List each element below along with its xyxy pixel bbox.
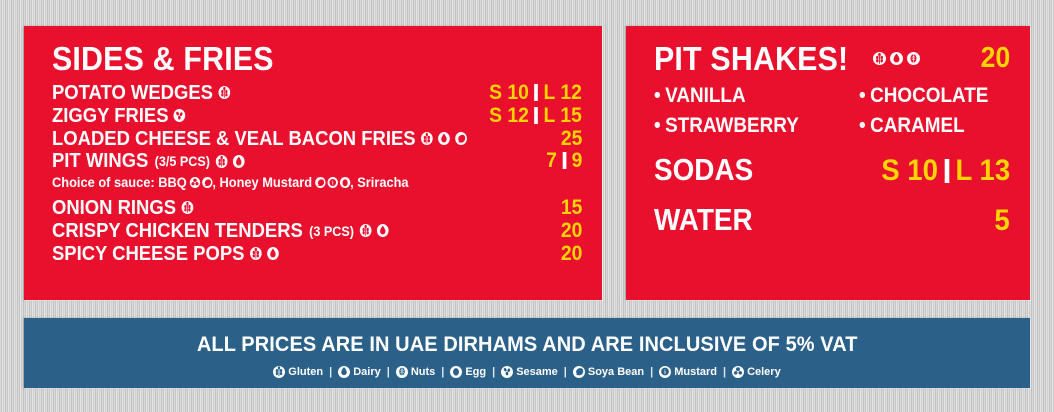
menu-item-price: S 12L 15 (489, 105, 582, 127)
sauce-note-lead: Choice of sauce: BBQ (52, 175, 187, 190)
legend-separator: | (387, 366, 390, 378)
shake-flavor-label: VANILLA (665, 84, 745, 107)
egg-allergen-icon (450, 366, 462, 378)
footer-bar: ALL PRICES ARE IN UAE DIRHAMS AND ARE IN… (24, 318, 1030, 388)
gluten-allergen-icon (218, 86, 230, 99)
egg-allergen-icon (340, 177, 350, 188)
menu-item-price: 79 (546, 150, 582, 172)
mustard-allergen-icon: i (659, 366, 671, 378)
legend-label: Dairy (353, 366, 381, 378)
legend-label: Nuts (411, 366, 435, 378)
menu-item-row: POTATO WEDGESS 10L 12 (52, 82, 582, 104)
celery-allergen-icon (732, 366, 744, 378)
legend-label: Mustard (674, 366, 717, 378)
pit-shakes-header: PIT SHAKES! 20 (654, 42, 1010, 75)
menu-item-price: 20 (561, 243, 582, 265)
legend-separator: | (564, 366, 567, 378)
shake-flavor-list: •VANILLA•CHOCOLATE•STRAWBERRY•CARAMEL (654, 84, 1010, 138)
sesame-allergen-icon (174, 109, 186, 122)
sides-section-title: SIDES & FRIES (52, 42, 540, 75)
menu-item-name: CRISPY CHICKEN TENDERS(3 PCS) (52, 220, 388, 241)
menu-item-name: ONION RINGS (52, 197, 193, 218)
menu-item-name: SPICY CHEESE POPS (52, 243, 279, 264)
menu-item-row: PIT WINGS(3/5 PCS)79 (52, 150, 582, 172)
gluten-allergen-icon (181, 201, 193, 214)
bullet-icon: • (859, 114, 866, 137)
drink-row: WATER5 (654, 202, 1010, 238)
drink-name: SODAS (654, 152, 753, 188)
shakes-and-drinks-panel: PIT SHAKES! 20 •VANILLA•CHOCOLATE•STRAWB… (626, 26, 1030, 300)
price-separator (534, 84, 538, 101)
dairy-allergen-icon (376, 224, 388, 237)
menu-item-row: CRISPY CHICKEN TENDERS(3 PCS)20 (52, 220, 582, 242)
soya-allergen-icon (315, 177, 325, 188)
gluten-allergen-icon (273, 366, 285, 378)
legend-item: Nuts (396, 366, 435, 378)
legend-item: Gluten (273, 366, 323, 378)
gluten-allergen-icon (421, 132, 433, 145)
legend-separator: | (492, 366, 495, 378)
legend-separator: | (441, 366, 444, 378)
menu-item-row: ONION RINGS15 (52, 197, 582, 219)
drink-name: WATER (654, 202, 753, 238)
menu-item-name: POTATO WEDGES (52, 82, 230, 103)
legend-item: Sesame (501, 366, 558, 378)
legend-item: iMustard (659, 366, 717, 378)
gluten-allergen-icon (250, 247, 262, 260)
menu-item-price: 20 (561, 220, 582, 242)
dairy-allergen-icon (232, 155, 244, 168)
menu-item-price: 25 (561, 128, 582, 150)
pit-shakes-price: 20 (980, 42, 1010, 75)
nuts-allergen-icon (907, 52, 920, 65)
legend-item: Celery (732, 366, 781, 378)
soya-allergen-icon (202, 177, 212, 188)
sides-item-list-2: ONION RINGS15CRISPY CHICKEN TENDERS(3 PC… (52, 197, 582, 264)
vat-notice: ALL PRICES ARE IN UAE DIRHAMS AND ARE IN… (197, 332, 858, 357)
legend-separator: | (329, 366, 332, 378)
soya-allergen-icon (455, 132, 467, 145)
dairy-allergen-icon (890, 52, 903, 65)
legend-item: Soya Bean (573, 366, 644, 378)
shake-flavor: •CHOCOLATE (859, 84, 995, 108)
legend-item: Egg (450, 366, 486, 378)
price-separator (534, 107, 538, 124)
drink-list: SODASS 10L 13WATER5 (654, 152, 1010, 238)
menu-item-row: ZIGGY FRIESS 12L 15 (52, 105, 582, 127)
pit-shakes-title: PIT SHAKES! (654, 42, 848, 75)
legend-separator: | (723, 366, 726, 378)
menu-item-quantity: (3 PCS) (309, 224, 354, 239)
sauce-note-tail: , Sriracha (350, 175, 408, 190)
dairy-allergen-icon (438, 132, 450, 145)
pit-shakes-allergens (871, 52, 920, 65)
drink-price: S 10L 13 (881, 154, 1010, 188)
soya-allergen-icon (573, 366, 585, 378)
menu-item-row: LOADED CHEESE & VEAL BACON FRIES25 (52, 128, 582, 150)
shake-flavor: •STRAWBERRY (654, 114, 839, 138)
legend-label: Egg (465, 366, 486, 378)
sides-and-fries-panel: SIDES & FRIES POTATO WEDGESS 10L 12ZIGGY… (24, 26, 602, 300)
shake-flavor-label: CHOCOLATE (870, 84, 988, 107)
sides-item-list: POTATO WEDGESS 10L 12ZIGGY FRIESS 12L 15… (52, 82, 582, 172)
bullet-icon: • (859, 84, 866, 107)
shake-flavor: •CARAMEL (859, 114, 995, 138)
legend-item: Dairy (338, 366, 381, 378)
gluten-allergen-icon (215, 155, 227, 168)
mustard-allergen-icon: i (327, 177, 337, 188)
drink-row: SODASS 10L 13 (654, 152, 1010, 188)
allergen-legend: Gluten|Dairy|Nuts|Egg|Sesame|Soya Bean|i… (273, 366, 780, 378)
menu-item-price: S 10L 12 (489, 82, 582, 104)
shake-flavor-label: STRAWBERRY (665, 114, 799, 137)
shake-flavor-label: CARAMEL (870, 114, 965, 137)
price-separator (562, 152, 566, 169)
dairy-allergen-icon (267, 247, 279, 260)
menu-item-price: 15 (561, 197, 582, 219)
menu-item-row: SPICY CHEESE POPS20 (52, 243, 582, 265)
menu-item-name: LOADED CHEESE & VEAL BACON FRIES (52, 128, 467, 149)
menu-item-name: ZIGGY FRIES (52, 105, 186, 126)
celery-allergen-icon (190, 177, 200, 188)
gluten-allergen-icon (359, 224, 371, 237)
gluten-allergen-icon (873, 52, 886, 65)
shake-flavor: •VANILLA (654, 84, 839, 108)
drink-price: 5 (995, 204, 1010, 238)
sauce-note-mid: , Honey Mustard (212, 175, 312, 190)
menu-board: SIDES & FRIES POTATO WEDGESS 10L 12ZIGGY… (0, 0, 1054, 412)
price-separator (944, 159, 949, 183)
dairy-allergen-icon (338, 366, 350, 378)
nuts-allergen-icon (396, 366, 408, 378)
sesame-allergen-icon (501, 366, 513, 378)
sauce-choice-note: Choice of sauce: BBQ, Honey Mustardi, Sr… (52, 175, 556, 190)
menu-item-quantity: (3/5 PCS) (155, 154, 210, 169)
bullet-icon: • (654, 84, 661, 107)
bullet-icon: • (654, 114, 661, 137)
legend-separator: | (650, 366, 653, 378)
legend-label: Soya Bean (588, 366, 644, 378)
legend-label: Sesame (516, 366, 558, 378)
legend-label: Gluten (288, 366, 323, 378)
legend-label: Celery (747, 366, 781, 378)
menu-item-name: PIT WINGS(3/5 PCS) (52, 150, 244, 171)
